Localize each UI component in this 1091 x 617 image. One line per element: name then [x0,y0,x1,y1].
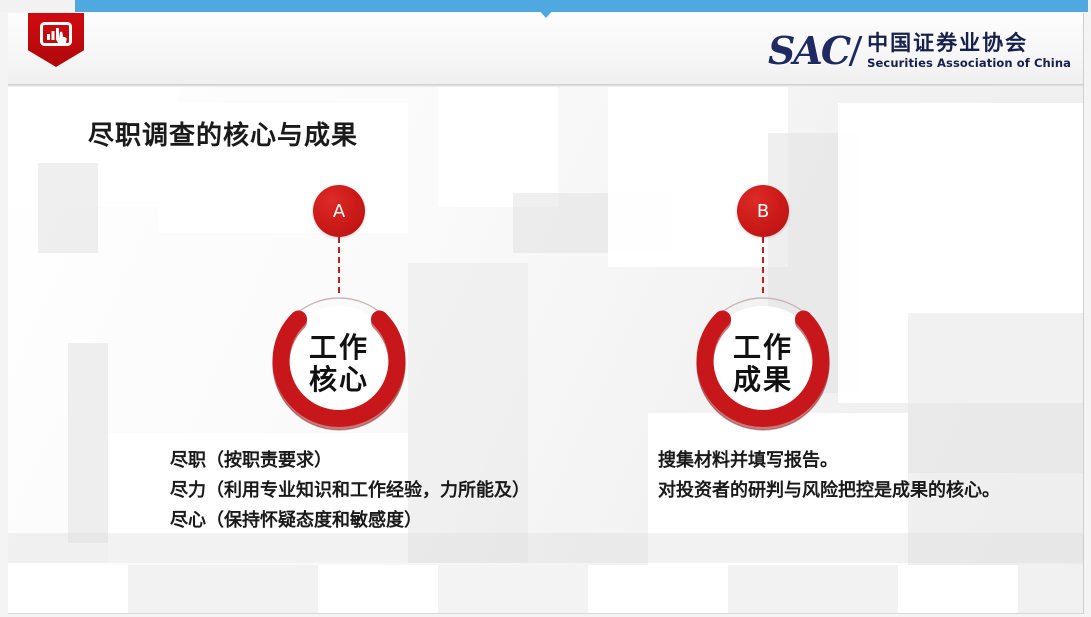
node-b-connector-line [762,237,764,293]
node-a-caption-line-3: 尽心（保持怀疑态度和敏感度） [170,506,530,536]
tablet-chart-touch-icon [40,22,72,46]
header-divider [8,84,1083,87]
sac-logo-mark: SAC [768,31,849,71]
node-a-ring-graphic [264,289,414,439]
node-a-caption-line-2: 尽力（利用专业知识和工作经验，力所能及） [170,476,530,506]
sac-logo-chinese-name: 中国证券业协会 [867,31,1071,56]
node-a-tag: A [313,185,365,237]
player-progress-track[interactable] [75,0,1088,12]
node-b-ring-graphic [688,289,838,439]
player-position-marker[interactable] [538,9,554,18]
sac-logo-slash [849,36,863,66]
sac-logo-text: 中国证券业协会 Securities Association of China [867,31,1071,71]
node-a-caption: 尽职（按职责要求） 尽力（利用专业知识和工作经验，力所能及） 尽心（保持怀疑态度… [170,446,530,536]
node-b-ring: 工作 成果 [688,289,838,439]
slide-canvas: 2.3尽职调查 SAC 中国证券业协会 Securities Associati… [8,13,1084,614]
slide-viewport: 2.3尽职调查 SAC 中国证券业协会 Securities Associati… [0,0,1091,617]
slide-subtitle: 尽职调查的核心与成果 [88,115,358,152]
node-a-ring: 工作 核心 [264,289,414,439]
player-bar-left-cap [0,0,76,12]
node-a-connector-line [338,237,340,293]
node-b-tag: B [737,185,789,237]
node-b-caption: 搜集材料并填写报告。 对投资者的研判与风险把控是成果的核心。 [658,446,1000,506]
node-b-caption-line-1: 搜集材料并填写报告。 [658,446,1000,476]
node-a-caption-line-1: 尽职（按职责要求） [170,446,530,476]
node-b-caption-line-2: 对投资者的研判与风险把控是成果的核心。 [658,476,1000,506]
sac-logo-english-name: Securities Association of China [867,56,1071,71]
sac-logo: SAC 中国证券业协会 Securities Association of Ch… [768,26,1071,76]
